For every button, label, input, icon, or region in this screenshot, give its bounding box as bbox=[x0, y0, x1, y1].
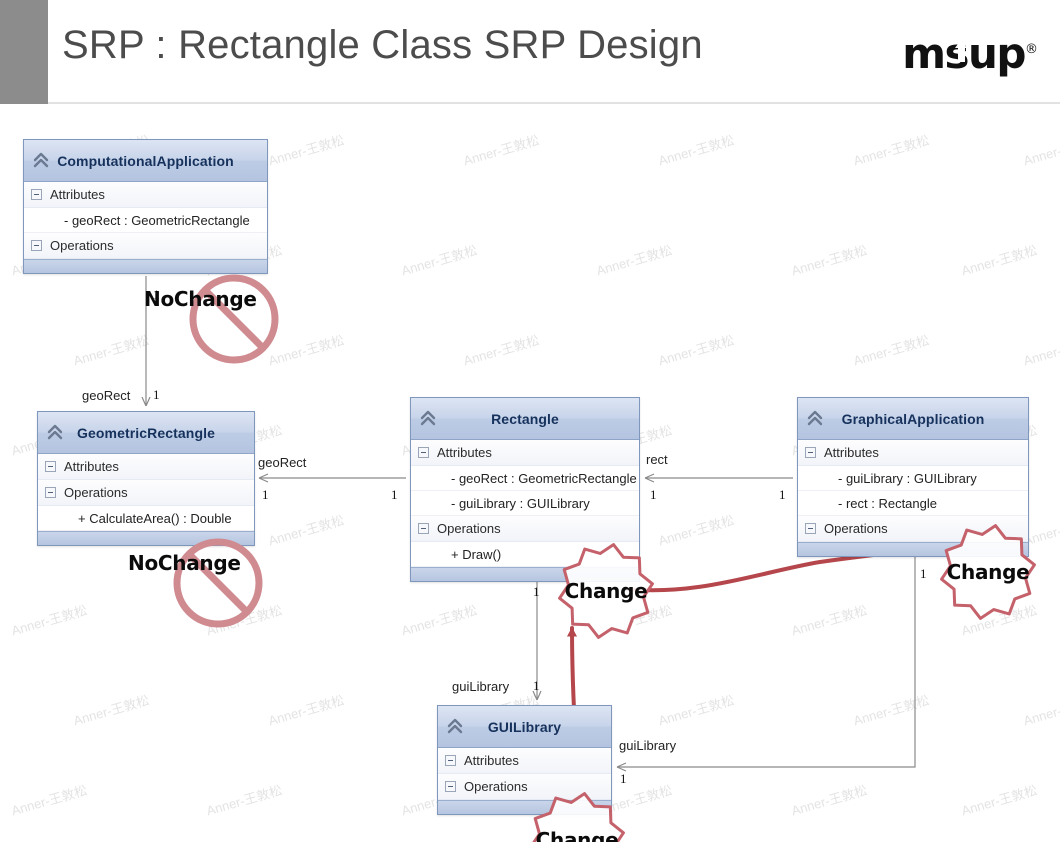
collapse-minus-icon[interactable] bbox=[31, 189, 42, 200]
uml-section-attributes[interactable]: Attributes bbox=[798, 440, 1028, 466]
uml-member-label: - geoRect : GeometricRectangle bbox=[451, 471, 637, 486]
collapse-minus-icon[interactable] bbox=[445, 781, 456, 792]
uml-section-label: Attributes bbox=[437, 445, 492, 460]
watermark-text: Anner-王敦松 bbox=[1021, 330, 1060, 370]
connector-graphical-to-guilibrary bbox=[617, 547, 915, 767]
collapse-minus-icon[interactable] bbox=[805, 447, 816, 458]
collapse-minus-icon[interactable] bbox=[445, 755, 456, 766]
watermark-text: Anner-王敦松 bbox=[959, 240, 1039, 280]
multiplicity-rectangle-guilibrary-source: 1 bbox=[533, 584, 540, 600]
prohibition-no-entry-icon bbox=[186, 271, 282, 367]
uml-section-label: Operations bbox=[50, 238, 114, 253]
uml-section-attributes[interactable]: Attributes bbox=[38, 454, 254, 480]
watermark-text: Anner-王敦松 bbox=[959, 780, 1039, 820]
uml-member[interactable]: - rect : Rectangle bbox=[798, 491, 1028, 516]
watermark-text: Anner-王敦松 bbox=[461, 130, 541, 170]
annotation-change-guilibrary: Change bbox=[527, 790, 627, 842]
uml-class-name: GUILibrary bbox=[488, 719, 561, 735]
uml-section-label: Attributes bbox=[464, 753, 519, 768]
uml-member[interactable]: - guiLibrary : GUILibrary bbox=[411, 491, 639, 516]
annotation-change-graphical: Change bbox=[938, 522, 1038, 622]
annotation-change-rectangle: Change bbox=[556, 541, 656, 641]
double-chevron-up-icon bbox=[807, 409, 823, 427]
uml-member-label: - guiLibrary : GUILibrary bbox=[838, 471, 977, 486]
page-title: SRP : Rectangle Class SRP Design bbox=[62, 23, 703, 68]
uml-section-label: Operations bbox=[437, 521, 501, 536]
watermark-text: Anner-王敦松 bbox=[851, 130, 931, 170]
uml-class-geometric-rectangle[interactable]: GeometricRectangleAttributesOperations+ … bbox=[37, 411, 255, 546]
uml-class-header: GeometricRectangle bbox=[38, 412, 254, 454]
multiplicity-computational-target: 1 bbox=[153, 387, 160, 403]
watermark-text: Anner-王敦松 bbox=[266, 510, 346, 550]
watermark-text: Anner-王敦松 bbox=[71, 690, 151, 730]
collapse-minus-icon[interactable] bbox=[45, 461, 56, 472]
uml-class-name: Rectangle bbox=[491, 411, 559, 427]
uml-section-label: Operations bbox=[824, 521, 888, 536]
annotation-label: Change bbox=[565, 579, 648, 603]
edge-label-computational-geoRect: geoRect bbox=[82, 388, 130, 403]
edge-label-rectangle-geoRect: geoRect bbox=[258, 455, 306, 470]
uml-class-header: GUILibrary bbox=[438, 706, 611, 748]
collapse-minus-icon[interactable] bbox=[418, 447, 429, 458]
registered-mark-icon: ® bbox=[1025, 42, 1038, 57]
uml-member-label: + Draw() bbox=[451, 547, 501, 562]
watermark-text: Anner-王敦松 bbox=[656, 130, 736, 170]
annotation-label: NoChange bbox=[144, 287, 257, 311]
edge-label-rectangle-guiLibrary: guiLibrary bbox=[452, 679, 509, 694]
multiplicity-graphical-rectangle-source: 1 bbox=[779, 487, 786, 503]
double-chevron-up-icon bbox=[420, 409, 436, 427]
collapse-minus-icon[interactable] bbox=[418, 523, 429, 534]
slide-canvas: Anner-王敦松Anner-王敦松Anner-王敦松Anner-王敦松Anne… bbox=[0, 0, 1060, 842]
uml-section-operations[interactable]: Operations bbox=[38, 480, 254, 506]
multiplicity-rectangle-geometric-source: 1 bbox=[391, 487, 398, 503]
watermark-text: Anner-王敦松 bbox=[266, 130, 346, 170]
uml-section-label: Operations bbox=[464, 779, 528, 794]
watermark-text: Anner-王敦松 bbox=[71, 330, 151, 370]
watermark-text: Anner-王敦松 bbox=[204, 780, 284, 820]
annotation-nochange-geometric: NoChange bbox=[170, 535, 266, 631]
collapse-minus-icon[interactable] bbox=[31, 240, 42, 251]
watermark-text: Anner-王敦松 bbox=[789, 600, 869, 640]
uml-member-label: - guiLibrary : GUILibrary bbox=[451, 496, 590, 511]
watermark-text: Anner-王敦松 bbox=[399, 240, 479, 280]
uml-member[interactable]: - geoRect : GeometricRectangle bbox=[24, 208, 267, 233]
uml-member[interactable]: - guiLibrary : GUILibrary bbox=[798, 466, 1028, 491]
uml-member-label: + CalculateArea() : Double bbox=[78, 511, 232, 526]
collapse-minus-icon[interactable] bbox=[45, 487, 56, 498]
multiplicity-rectangle-guilibrary-target: 1 bbox=[533, 678, 540, 694]
watermark-text: Anner-王敦松 bbox=[1021, 690, 1060, 730]
uml-section-operations[interactable]: Operations bbox=[411, 516, 639, 542]
annotation-label: Change bbox=[947, 560, 1030, 584]
uml-class-header: Rectangle bbox=[411, 398, 639, 440]
watermark-text: Anner-王敦松 bbox=[656, 690, 736, 730]
watermark-text: Anner-王敦松 bbox=[789, 240, 869, 280]
uml-class-name: ComputationalApplication bbox=[57, 153, 234, 169]
uml-section-label: Attributes bbox=[64, 459, 119, 474]
uml-class-header: GraphicalApplication bbox=[798, 398, 1028, 440]
watermark-text: Anner-王敦松 bbox=[461, 330, 541, 370]
watermark-text: Anner-王敦松 bbox=[656, 510, 736, 550]
watermark-text: Anner-王敦松 bbox=[851, 690, 931, 730]
uml-member-label: - rect : Rectangle bbox=[838, 496, 937, 511]
collapse-minus-icon[interactable] bbox=[805, 523, 816, 534]
uml-section-label: Attributes bbox=[824, 445, 879, 460]
uml-section-label: Attributes bbox=[50, 187, 105, 202]
uml-section-attributes[interactable]: Attributes bbox=[24, 182, 267, 208]
uml-class-header: ComputationalApplication bbox=[24, 140, 267, 182]
watermark-text: Anner-王敦松 bbox=[789, 780, 869, 820]
watermark-text: Anner-王敦松 bbox=[9, 600, 89, 640]
watermark-text: Anner-王敦松 bbox=[594, 240, 674, 280]
uml-class-computational-application[interactable]: ComputationalApplicationAttributes- geoR… bbox=[23, 139, 268, 274]
annotation-label: NoChange bbox=[128, 551, 241, 575]
watermark-text: Anner-王敦松 bbox=[656, 330, 736, 370]
double-chevron-up-icon bbox=[33, 151, 49, 169]
double-chevron-up-icon bbox=[447, 717, 463, 735]
msup-logo-text: msup® bbox=[902, 27, 1038, 77]
edge-label-graphical-guiLibrary: guiLibrary bbox=[619, 738, 676, 753]
header-accent-block bbox=[0, 0, 48, 104]
multiplicity-graphical-rectangle-target: 1 bbox=[650, 487, 657, 503]
watermark-text: Anner-王敦松 bbox=[1021, 130, 1060, 170]
uml-section-attributes[interactable]: Attributes bbox=[438, 748, 611, 774]
double-chevron-up-icon bbox=[47, 423, 63, 441]
uml-class-name: GraphicalApplication bbox=[842, 411, 985, 427]
multiplicity-rectangle-geometric-target: 1 bbox=[262, 487, 269, 503]
uml-section-attributes[interactable]: Attributes bbox=[411, 440, 639, 466]
watermark-text: Anner-王敦松 bbox=[9, 780, 89, 820]
watermark-text: Anner-王敦松 bbox=[266, 690, 346, 730]
watermark-text: Anner-王敦松 bbox=[399, 600, 479, 640]
annotation-nochange-computational: NoChange bbox=[186, 271, 282, 367]
multiplicity-graphical-guilibrary-source: 1 bbox=[920, 566, 927, 582]
slide-header: SRP : Rectangle Class SRP Design msup® bbox=[0, 0, 1060, 104]
edge-label-graphical-rect: rect bbox=[646, 452, 668, 467]
uml-member[interactable]: + CalculateArea() : Double bbox=[38, 506, 254, 531]
annotation-label: Change bbox=[536, 828, 619, 842]
uml-section-operations[interactable]: Operations bbox=[24, 233, 267, 259]
prohibition-no-entry-icon bbox=[170, 535, 266, 631]
uml-section-label: Operations bbox=[64, 485, 128, 500]
watermark-text: Anner-王敦松 bbox=[851, 330, 931, 370]
msup-logo: msup® bbox=[902, 27, 1038, 73]
uml-class-name: GeometricRectangle bbox=[77, 425, 215, 441]
uml-member-label: - geoRect : GeometricRectangle bbox=[64, 213, 250, 228]
multiplicity-graphical-guilibrary-target: 1 bbox=[620, 771, 627, 787]
uml-member[interactable]: - geoRect : GeometricRectangle bbox=[411, 466, 639, 491]
